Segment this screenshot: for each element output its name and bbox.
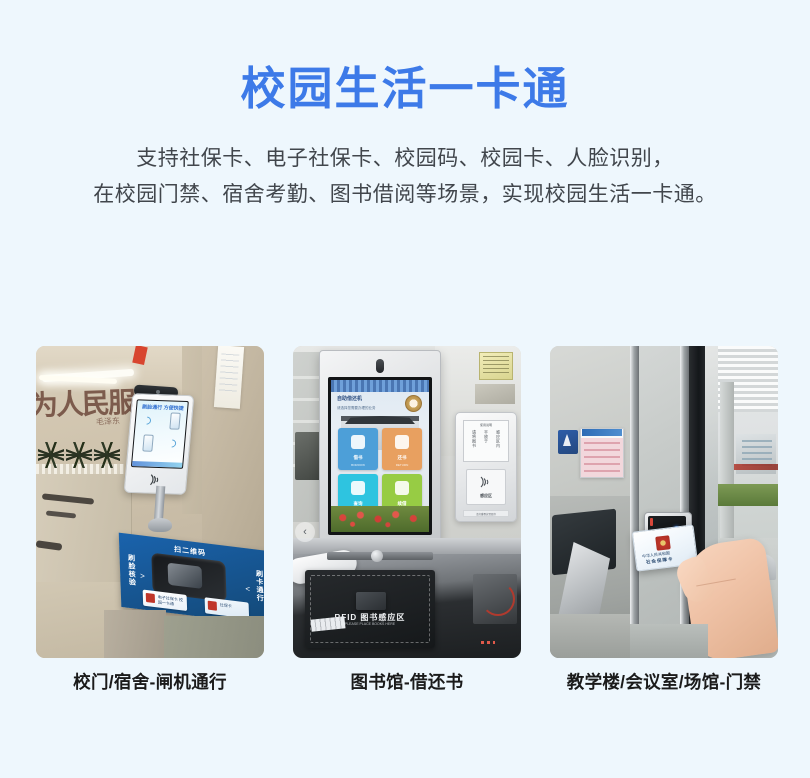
nfc-area-label: 感应区 <box>467 493 505 499</box>
arrow-right-icon: > <box>140 571 145 581</box>
interior-floor <box>550 614 636 658</box>
tile-label: 还书 <box>382 455 422 461</box>
nfc-wave-icon <box>141 415 152 426</box>
posted-paper-lines <box>219 353 240 394</box>
panel-label-right: 刷卡通行 <box>253 569 264 602</box>
plant-icon <box>66 442 92 468</box>
renew-icon <box>395 481 409 495</box>
reader-status-led-red <box>650 518 653 526</box>
instruction-column: 感应区内 <box>495 430 501 458</box>
national-emblem-icon <box>208 601 217 611</box>
face-recognition-terminal[interactable]: 刷脸通行 方便快捷 <box>124 393 195 495</box>
return-icon <box>395 435 409 449</box>
caption-gate: 校门/宿舍-闸机通行 <box>36 670 264 694</box>
photo-gate-turnstile: 为人民服务 毛泽东 刷脸通行 方便快捷 <box>36 346 264 658</box>
tile-return[interactable]: 还书 RETURN <box>382 428 422 470</box>
wall-panel <box>475 384 515 404</box>
tile-borrow[interactable]: 借书 BORROW <box>338 428 378 470</box>
wall-calligraphy-signature: 毛泽东 <box>96 415 121 427</box>
photo-door-access: 中华人民共和国 社会保障卡 <box>550 346 778 658</box>
chevron-left-icon[interactable]: ‹ <box>295 522 315 542</box>
notice-board-header <box>582 429 622 436</box>
instruction-panel: 使用说明 请将图书 平放于 感应区内 感应区 请勿重叠放置图书 <box>455 412 517 522</box>
phone-illustration-icon <box>169 412 180 429</box>
photo-library-kiosk: 自助借还机 请选择您需要办理的业务 借书 BORROW <box>293 346 521 658</box>
outdoor-hedge <box>718 484 778 506</box>
scenario-card-library: 自助借还机 请选择您需要办理的业务 借书 BORROW <box>293 346 521 658</box>
school-logo-icon <box>405 395 422 412</box>
status-leds <box>481 641 495 644</box>
national-emblem-icon <box>655 535 671 551</box>
subtitle-line-1: 支持社保卡、电子社保卡、校园码、校园卡、人脸识别， <box>0 141 810 177</box>
nfc-sense-area[interactable]: 感应区 <box>466 469 506 505</box>
scenario-photo-row: 为人民服务 毛泽东 刷脸通行 方便快捷 <box>36 346 778 658</box>
terminal-screen-title: 刷脸通行 方便快捷 <box>142 404 184 411</box>
book-icon <box>351 435 365 449</box>
tile-sublabel: RETURN <box>382 463 422 467</box>
instruction-column: 请将图书 <box>471 430 477 458</box>
page-subtitle: 支持社保卡、电子社保卡、校园码、校园卡、人脸识别， 在校园门禁、宿舍考勤、图书借… <box>0 141 810 213</box>
card-sample-left-text: 电子社保卡 校园一卡通 <box>158 594 187 608</box>
instruction-columns: 请将图书 平放于 感应区内 <box>468 430 504 458</box>
caption-door: 教学楼/会议室/场馆-门禁 <box>550 670 778 694</box>
terminal-screen-footer-bar <box>132 461 182 468</box>
scanner-glass-reflection <box>168 563 203 589</box>
doorway-floor <box>630 624 708 658</box>
tile-sublabel: BORROW <box>338 463 378 467</box>
search-icon <box>351 481 365 495</box>
screen-subheading: 请选择您需要办理的业务 <box>337 406 376 411</box>
kiosk-camera-icon <box>376 359 384 373</box>
caption-row: 校门/宿舍-闸机通行 图书馆-借还书 教学楼/会议室/场馆-门禁 <box>36 670 778 694</box>
notice-board-text-lines <box>584 442 620 472</box>
door-frame-mullion <box>680 346 689 658</box>
instruction-footer: 请勿重叠放置图书 <box>463 510 509 517</box>
plant-icon <box>94 442 120 468</box>
red-cable <box>481 582 515 616</box>
wall-notice-lines <box>483 356 509 376</box>
book-on-pad <box>356 592 386 610</box>
instruction-title: 使用说明 <box>468 423 504 427</box>
nfc-wave-icon <box>166 438 177 449</box>
door-frame-mullion <box>630 346 639 658</box>
caption-library: 图书馆-借还书 <box>293 670 521 694</box>
plant-icon <box>38 442 64 468</box>
nfc-icon <box>147 474 164 487</box>
turnstile-base-secondary <box>164 616 264 658</box>
phone-illustration-icon <box>142 434 153 451</box>
instruction-box: 使用说明 请将图书 平放于 感应区内 <box>463 420 509 462</box>
tile-label: 借书 <box>338 455 378 461</box>
scenario-card-gate: 为人民服务 毛泽东 刷脸通行 方便快捷 <box>36 346 264 658</box>
flower-garden-strip <box>331 506 429 532</box>
turnstile-base <box>104 610 166 658</box>
service-tile-grid: 借书 BORROW 还书 RETURN 查询 SEA <box>338 428 422 516</box>
outdoor-red-banner <box>734 464 778 470</box>
subtitle-line-2: 在校园门禁、宿舍考勤、图书借阅等场景，实现校园生活一卡通。 <box>0 177 810 213</box>
panel-label-left: 刷脸核验 <box>125 553 136 586</box>
page-title: 校园生活一卡通 <box>0 66 810 111</box>
terminal-pole-base <box>148 518 172 532</box>
rfid-book-pad[interactable]: RFID 图书感应区 PLEASE PLACE BOOKS HERE <box>305 570 435 648</box>
scenario-card-door-access: 中华人民共和国 社会保障卡 <box>550 346 778 658</box>
terminal-screen[interactable]: 刷脸通行 方便快捷 <box>131 399 189 469</box>
card-sample-right-text: 社保卡 <box>220 602 232 609</box>
self-service-kiosk[interactable]: 自助借还机 请选择您需要办理的业务 借书 BORROW <box>319 350 441 546</box>
screen-heading: 自助借还机 <box>337 396 362 403</box>
nfc-icon <box>478 476 494 488</box>
kiosk-screen-bezel: 自助借还机 请选择您需要办理的业务 借书 BORROW <box>328 377 432 535</box>
kiosk-screen[interactable]: 自助借还机 请选择您需要办理的业务 借书 BORROW <box>331 380 429 532</box>
kiosk-knob[interactable] <box>371 550 383 562</box>
screen-header-bar <box>331 380 429 392</box>
national-emblem-icon <box>146 593 155 603</box>
arrow-left-icon: < <box>245 584 250 594</box>
turnstile-left-body <box>36 474 132 582</box>
outdoor-building-windows <box>742 440 772 466</box>
instruction-column: 平放于 <box>483 430 489 458</box>
